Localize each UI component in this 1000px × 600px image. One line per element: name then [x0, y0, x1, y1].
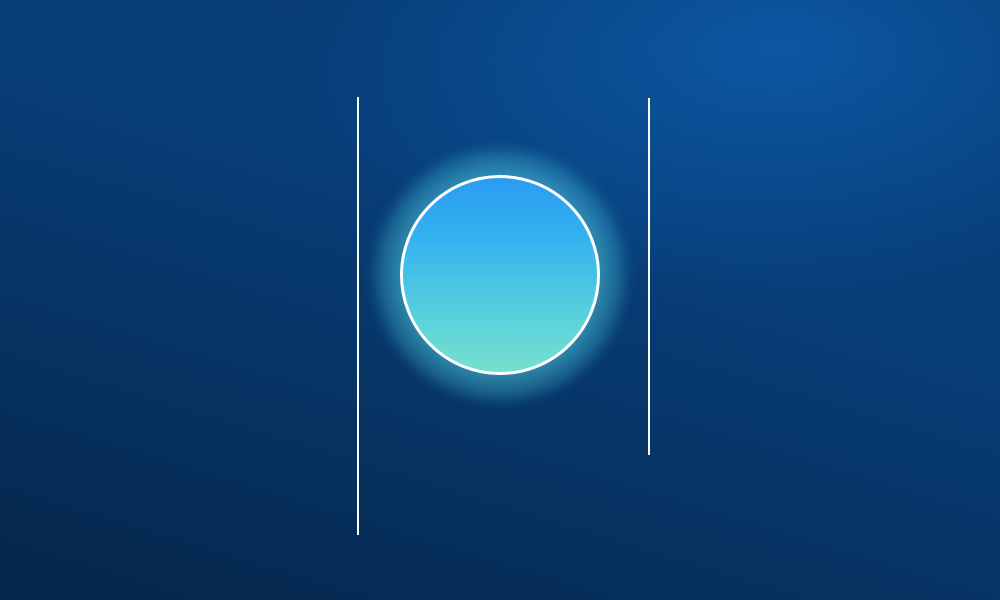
left-connector-spine [357, 97, 359, 535]
hub-circle [400, 175, 600, 375]
center-hub [400, 175, 600, 375]
infographic-canvas [0, 0, 1000, 600]
right-connector-spine [648, 98, 650, 455]
